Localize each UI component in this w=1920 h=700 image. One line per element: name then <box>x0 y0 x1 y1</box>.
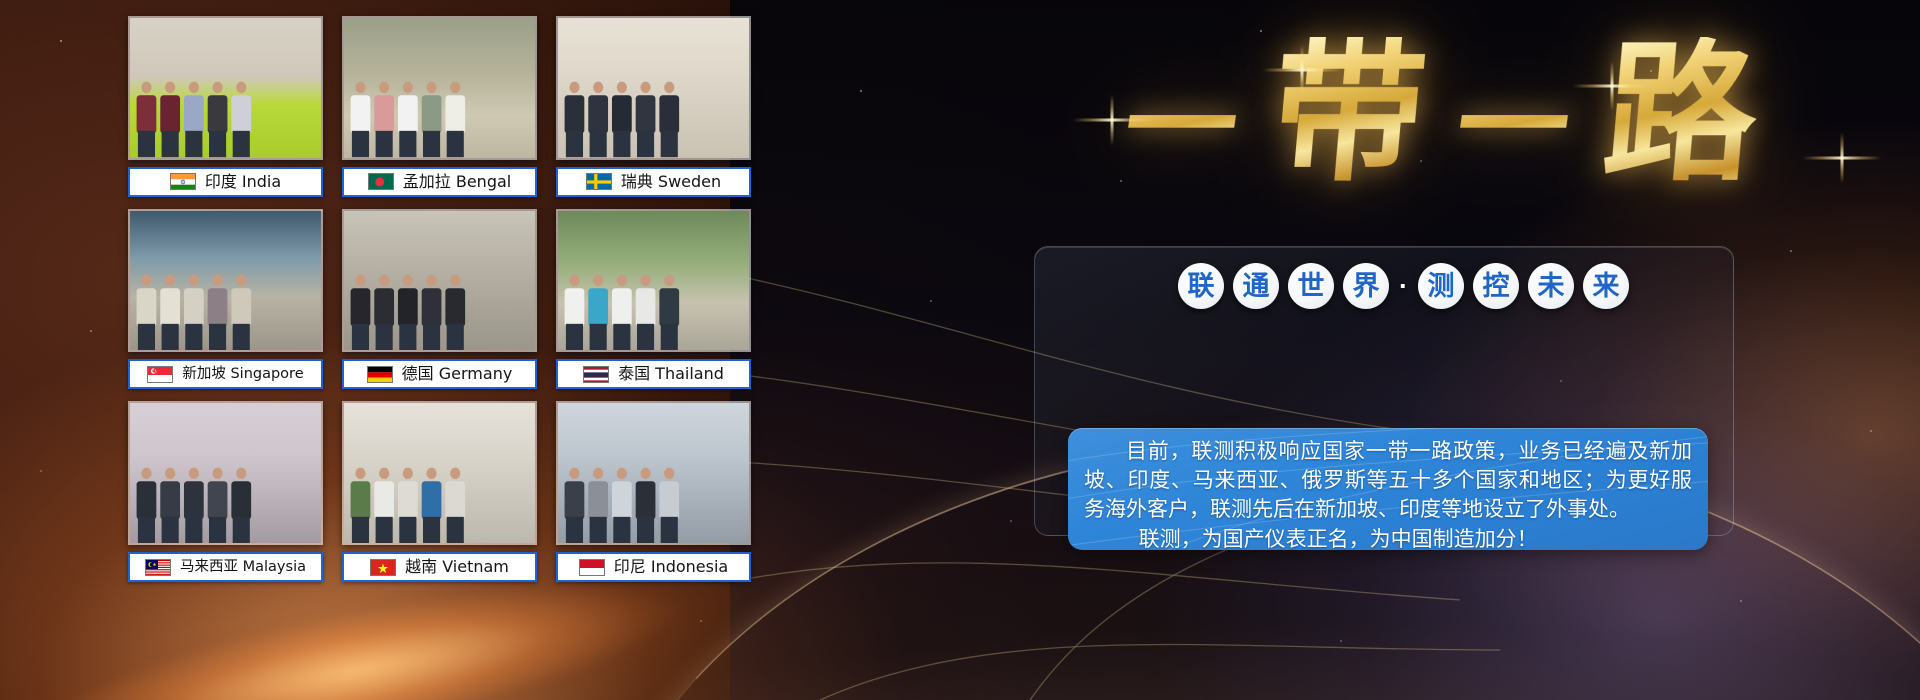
slogan-char-badge: 来 <box>1583 263 1629 309</box>
gallery-cell[interactable]: 泰国 Thailand <box>556 209 751 390</box>
country-caption: 印度 India <box>128 167 323 197</box>
country-photo[interactable] <box>128 209 323 353</box>
country-photo[interactable] <box>556 16 751 160</box>
slogan-char-badge: 未 <box>1528 263 1574 309</box>
country-photo[interactable] <box>342 401 537 545</box>
flag-thailand-icon <box>583 366 609 383</box>
gallery-cell[interactable]: 马来西亚 Malaysia <box>128 401 323 582</box>
country-photo[interactable] <box>128 16 323 160</box>
description-textbox: 目前，联测积极响应国家一带一路政策，业务已经遍及新加坡、印度、马来西亚、俄罗斯等… <box>1068 428 1708 550</box>
country-label: 孟加拉 Bengal <box>403 174 511 190</box>
slogan-char-badge: 控 <box>1473 263 1519 309</box>
country-label: 泰国 Thailand <box>618 366 724 382</box>
slogan-char-badge: 通 <box>1233 263 1279 309</box>
flag-indonesia-icon <box>579 559 605 576</box>
headline-char-1: 一 <box>1117 71 1245 183</box>
flag-vietnam-icon <box>370 559 396 576</box>
flag-singapore-icon <box>147 366 173 383</box>
country-label: 德国 Germany <box>402 366 513 382</box>
gallery-cell[interactable]: 孟加拉 Bengal <box>342 16 537 197</box>
gallery-cell[interactable]: 新加坡 Singapore <box>128 209 323 390</box>
country-label: 瑞典 Sweden <box>621 174 721 190</box>
headline-char-4: 路 <box>1598 37 1763 189</box>
country-photo[interactable] <box>128 401 323 545</box>
country-caption: 瑞典 Sweden <box>556 167 751 197</box>
description-paragraph-2: 联测，为国产仪表正名，为中国制造加分！ <box>1084 525 1692 550</box>
country-label: 马来西亚 Malaysia <box>180 560 306 575</box>
flag-bangladesh-icon <box>368 173 394 190</box>
slogan-char-badge: 联 <box>1178 263 1224 309</box>
flag-india-icon <box>170 173 196 190</box>
description-paragraph-1: 目前，联测积极响应国家一带一路政策，业务已经遍及新加坡、印度、马来西亚、俄罗斯等… <box>1084 437 1692 524</box>
gallery-cell[interactable]: 越南 Vietnam <box>342 401 537 582</box>
flag-sweden-icon <box>586 173 612 190</box>
country-caption: 马来西亚 Malaysia <box>128 552 323 582</box>
headline-char-3: 一 <box>1449 71 1577 183</box>
country-caption: 印尼 Indonesia <box>556 552 751 582</box>
country-caption: 越南 Vietnam <box>342 552 537 582</box>
slogan-char-badge: 世 <box>1288 263 1334 309</box>
gallery-cell[interactable]: 印度 India <box>128 16 323 197</box>
slogan-char-badge: 界 <box>1343 263 1389 309</box>
country-label: 印度 India <box>205 174 281 190</box>
country-label: 越南 Vietnam <box>405 559 509 575</box>
slogan-separator: · <box>1398 271 1409 302</box>
flag-malaysia-icon <box>145 559 171 576</box>
country-caption: 孟加拉 Bengal <box>342 167 537 197</box>
flag-germany-icon <box>367 366 393 383</box>
gallery-cell[interactable]: 瑞典 Sweden <box>556 16 751 197</box>
country-photo[interactable] <box>342 209 537 353</box>
slogan-row: 联通世界·测控未来 <box>1178 263 1629 309</box>
headline-calligraphy: 一 带 一 路 <box>1012 8 1872 218</box>
country-caption: 泰国 Thailand <box>556 359 751 389</box>
country-label: 印尼 Indonesia <box>614 559 728 575</box>
country-photo-grid: 印度 India 孟加拉 Bengal 瑞典 Sweden 新加坡 Singap… <box>128 16 756 582</box>
gallery-cell[interactable]: 印尼 Indonesia <box>556 401 751 582</box>
headline-char-2: 带 <box>1266 37 1431 189</box>
country-photo[interactable] <box>342 16 537 160</box>
country-caption: 新加坡 Singapore <box>128 359 323 389</box>
slogan-char-badge: 测 <box>1418 263 1464 309</box>
country-photo[interactable] <box>556 209 751 353</box>
gallery-cell[interactable]: 德国 Germany <box>342 209 537 390</box>
country-caption: 德国 Germany <box>342 359 537 389</box>
country-photo[interactable] <box>556 401 751 545</box>
country-label: 新加坡 Singapore <box>182 367 303 382</box>
